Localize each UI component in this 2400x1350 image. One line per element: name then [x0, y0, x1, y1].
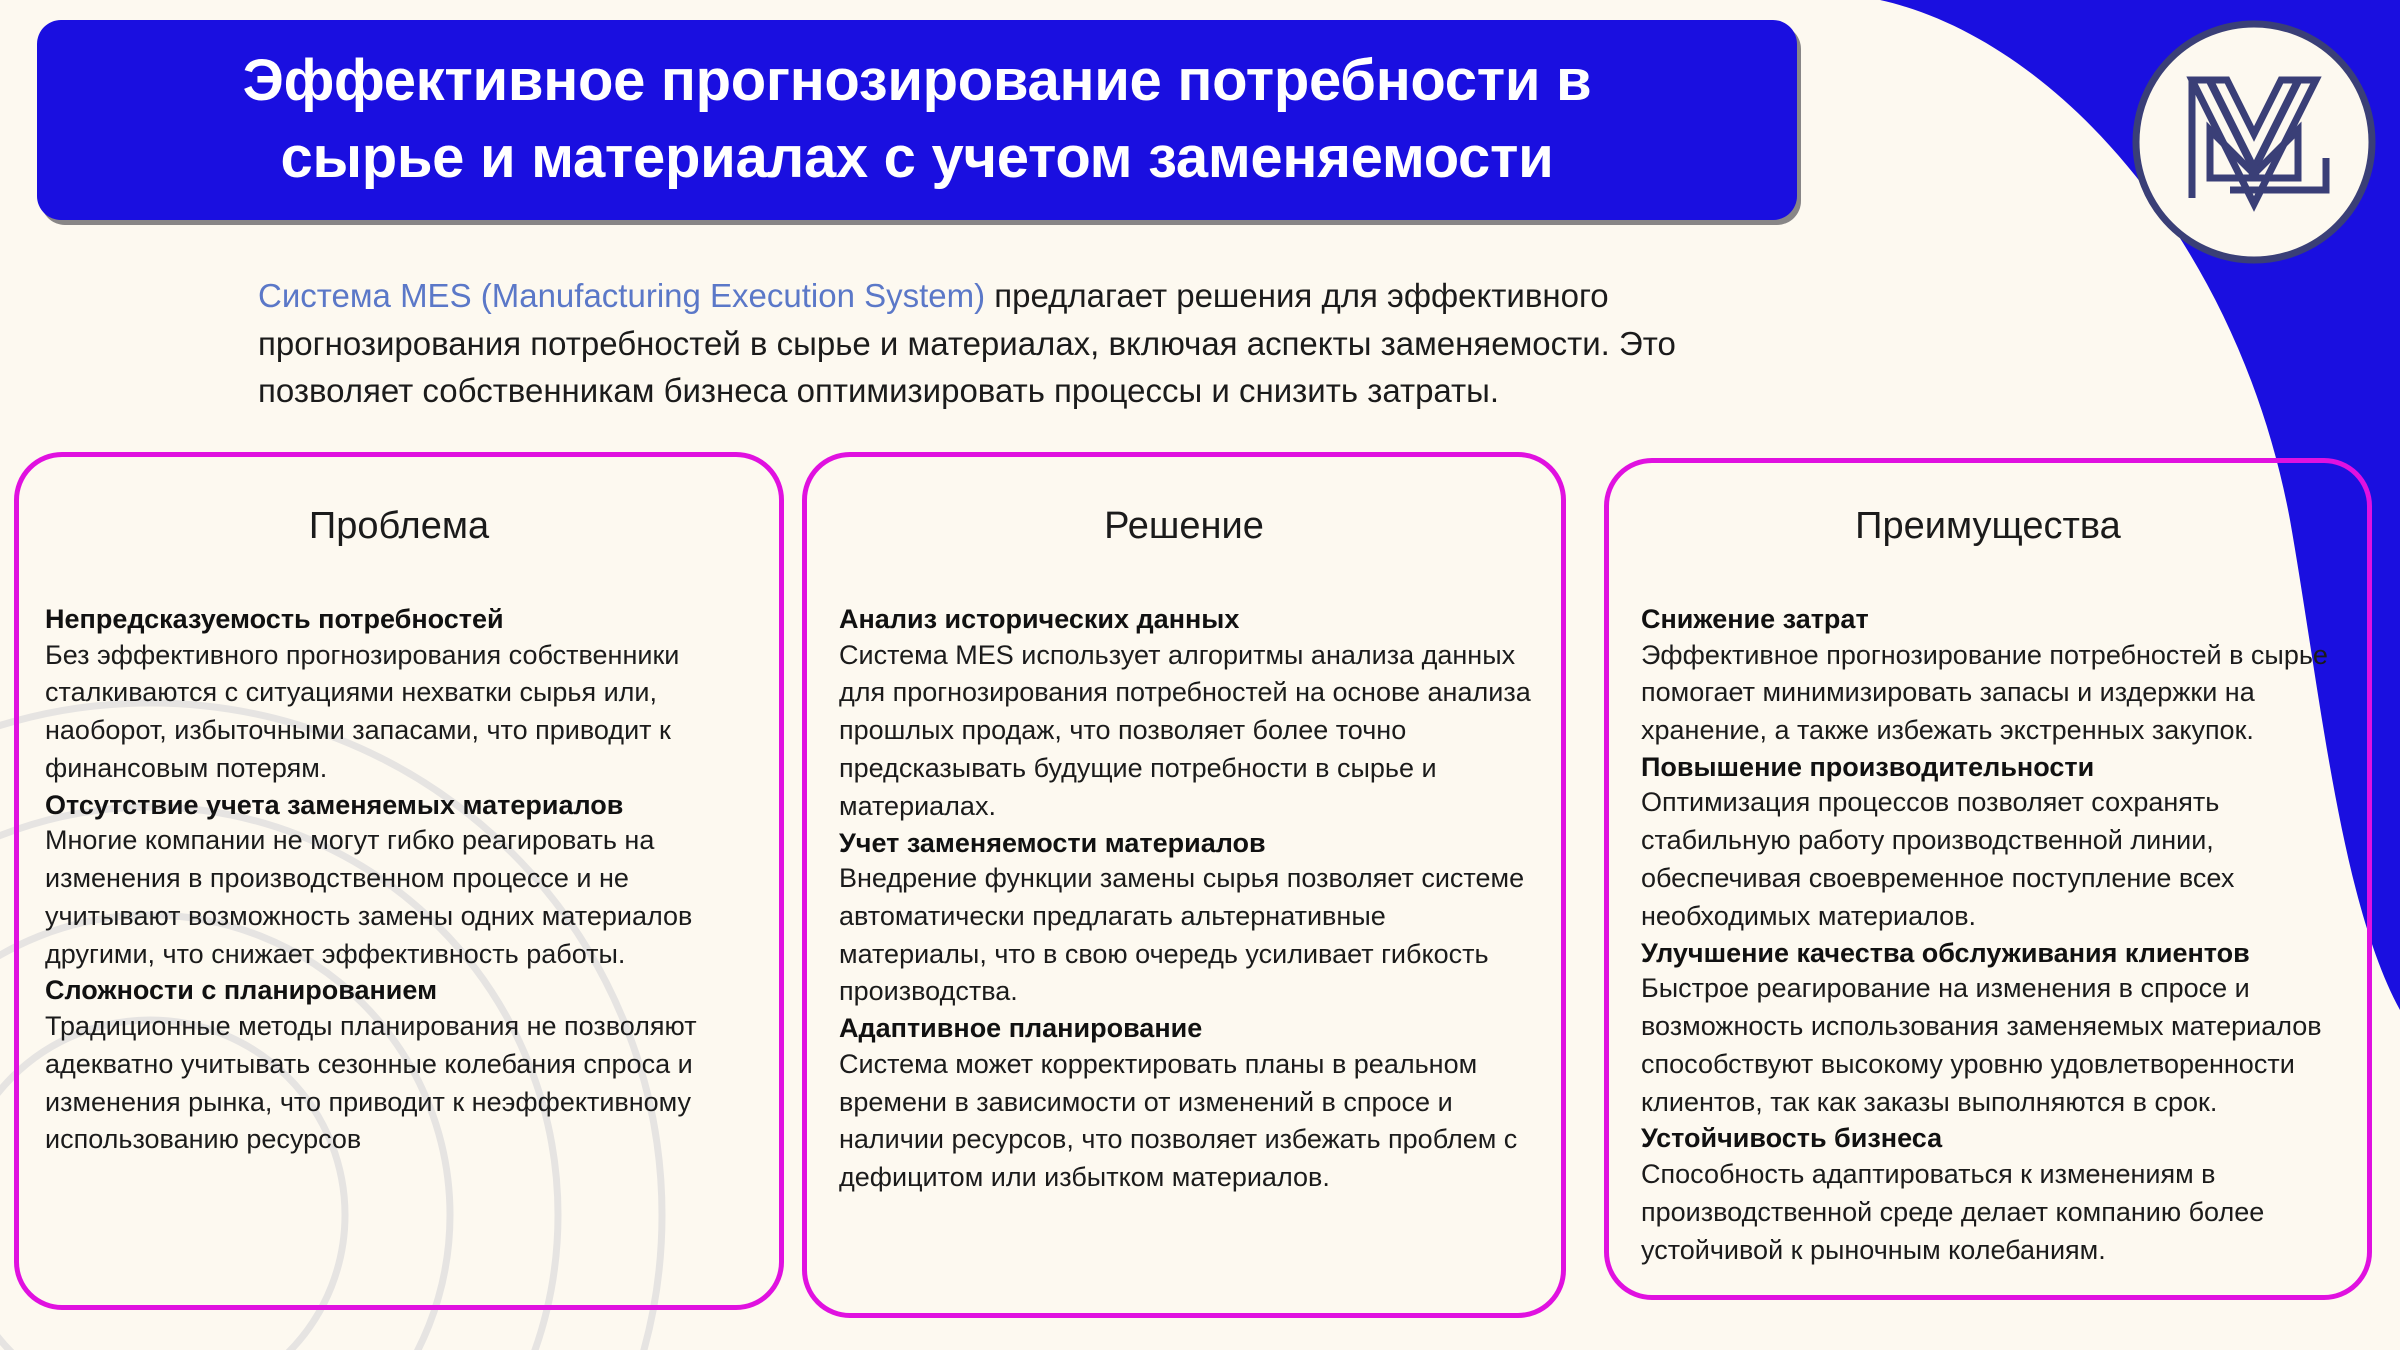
section-heading: Анализ исторических данных	[839, 602, 1531, 637]
card-section: Отсутствие учета заменяемых материалов М…	[45, 788, 753, 974]
card-title: Преимущества	[1609, 505, 2367, 548]
card-section: Анализ исторических данных Система MES и…	[839, 602, 1531, 826]
intro-paragraph: Система MES (Manufacturing Execution Sys…	[258, 272, 1738, 415]
card-benefits: Преимущества Снижение затрат Эффективное…	[1604, 458, 2372, 1300]
section-heading: Отсутствие учета заменяемых материалов	[45, 788, 753, 823]
page-title-banner: Эффективное прогнозирование потребности …	[37, 20, 1797, 220]
section-heading: Адаптивное планирование	[839, 1011, 1531, 1046]
card-section: Устойчивость бизнеса Способность адаптир…	[1641, 1121, 2341, 1269]
section-heading: Улучшение качества обслуживания клиентов	[1641, 936, 2341, 971]
card-body: Анализ исторических данных Система MES и…	[807, 602, 1561, 1197]
section-text: Эффективное прогнозирование потребностей…	[1641, 637, 2341, 750]
page-title-line-1: Эффективное прогнозирование потребности …	[243, 43, 1592, 120]
card-title: Решение	[807, 505, 1561, 548]
intro-highlight: Система MES (Manufacturing Execution Sys…	[258, 277, 985, 314]
card-section: Адаптивное планирование Система может ко…	[839, 1011, 1531, 1197]
card-title: Проблема	[19, 505, 779, 548]
section-heading: Снижение затрат	[1641, 602, 2341, 637]
card-section: Повышение производительности Оптимизация…	[1641, 750, 2341, 936]
page-title-line-2: сырье и материалах с учетом заменяемости	[281, 120, 1554, 197]
section-text: Внедрение функции замены сырья позволяет…	[839, 860, 1531, 1011]
section-heading: Сложности с планированием	[45, 973, 753, 1008]
section-heading: Непредсказуемость потребностей	[45, 602, 753, 637]
section-heading: Устойчивость бизнеса	[1641, 1121, 2341, 1156]
section-heading: Учет заменяемости материалов	[839, 826, 1531, 861]
card-section: Снижение затрат Эффективное прогнозирова…	[1641, 602, 2341, 750]
section-text: Способность адаптироваться к изменениям …	[1641, 1156, 2341, 1269]
section-text: Система может корректировать планы в реа…	[839, 1046, 1531, 1197]
card-section: Улучшение качества обслуживания клиентов…	[1641, 936, 2341, 1122]
section-text: Оптимизация процессов позволяет сохранят…	[1641, 784, 2341, 935]
card-problem: Проблема Непредсказуемость потребностей …	[14, 452, 784, 1310]
section-text: Система MES использует алгоритмы анализа…	[839, 637, 1531, 826]
section-text: Без эффективного прогнозирования собстве…	[45, 637, 753, 788]
section-text: Быстрое реагирование на изменения в спро…	[1641, 970, 2341, 1121]
section-text: Многие компании не могут гибко реагирова…	[45, 822, 753, 973]
card-body: Непредсказуемость потребностей Без эффек…	[19, 602, 779, 1159]
mes-monogram-logo	[2130, 18, 2378, 266]
card-body: Снижение затрат Эффективное прогнозирова…	[1609, 602, 2367, 1269]
card-solution: Решение Анализ исторических данных Систе…	[802, 452, 1566, 1318]
card-section: Учет заменяемости материалов Внедрение ф…	[839, 826, 1531, 1012]
section-heading: Повышение производительности	[1641, 750, 2341, 785]
section-text: Традиционные методы планирования не позв…	[45, 1008, 753, 1159]
card-section: Непредсказуемость потребностей Без эффек…	[45, 602, 753, 788]
card-section: Сложности с планированием Традиционные м…	[45, 973, 753, 1159]
